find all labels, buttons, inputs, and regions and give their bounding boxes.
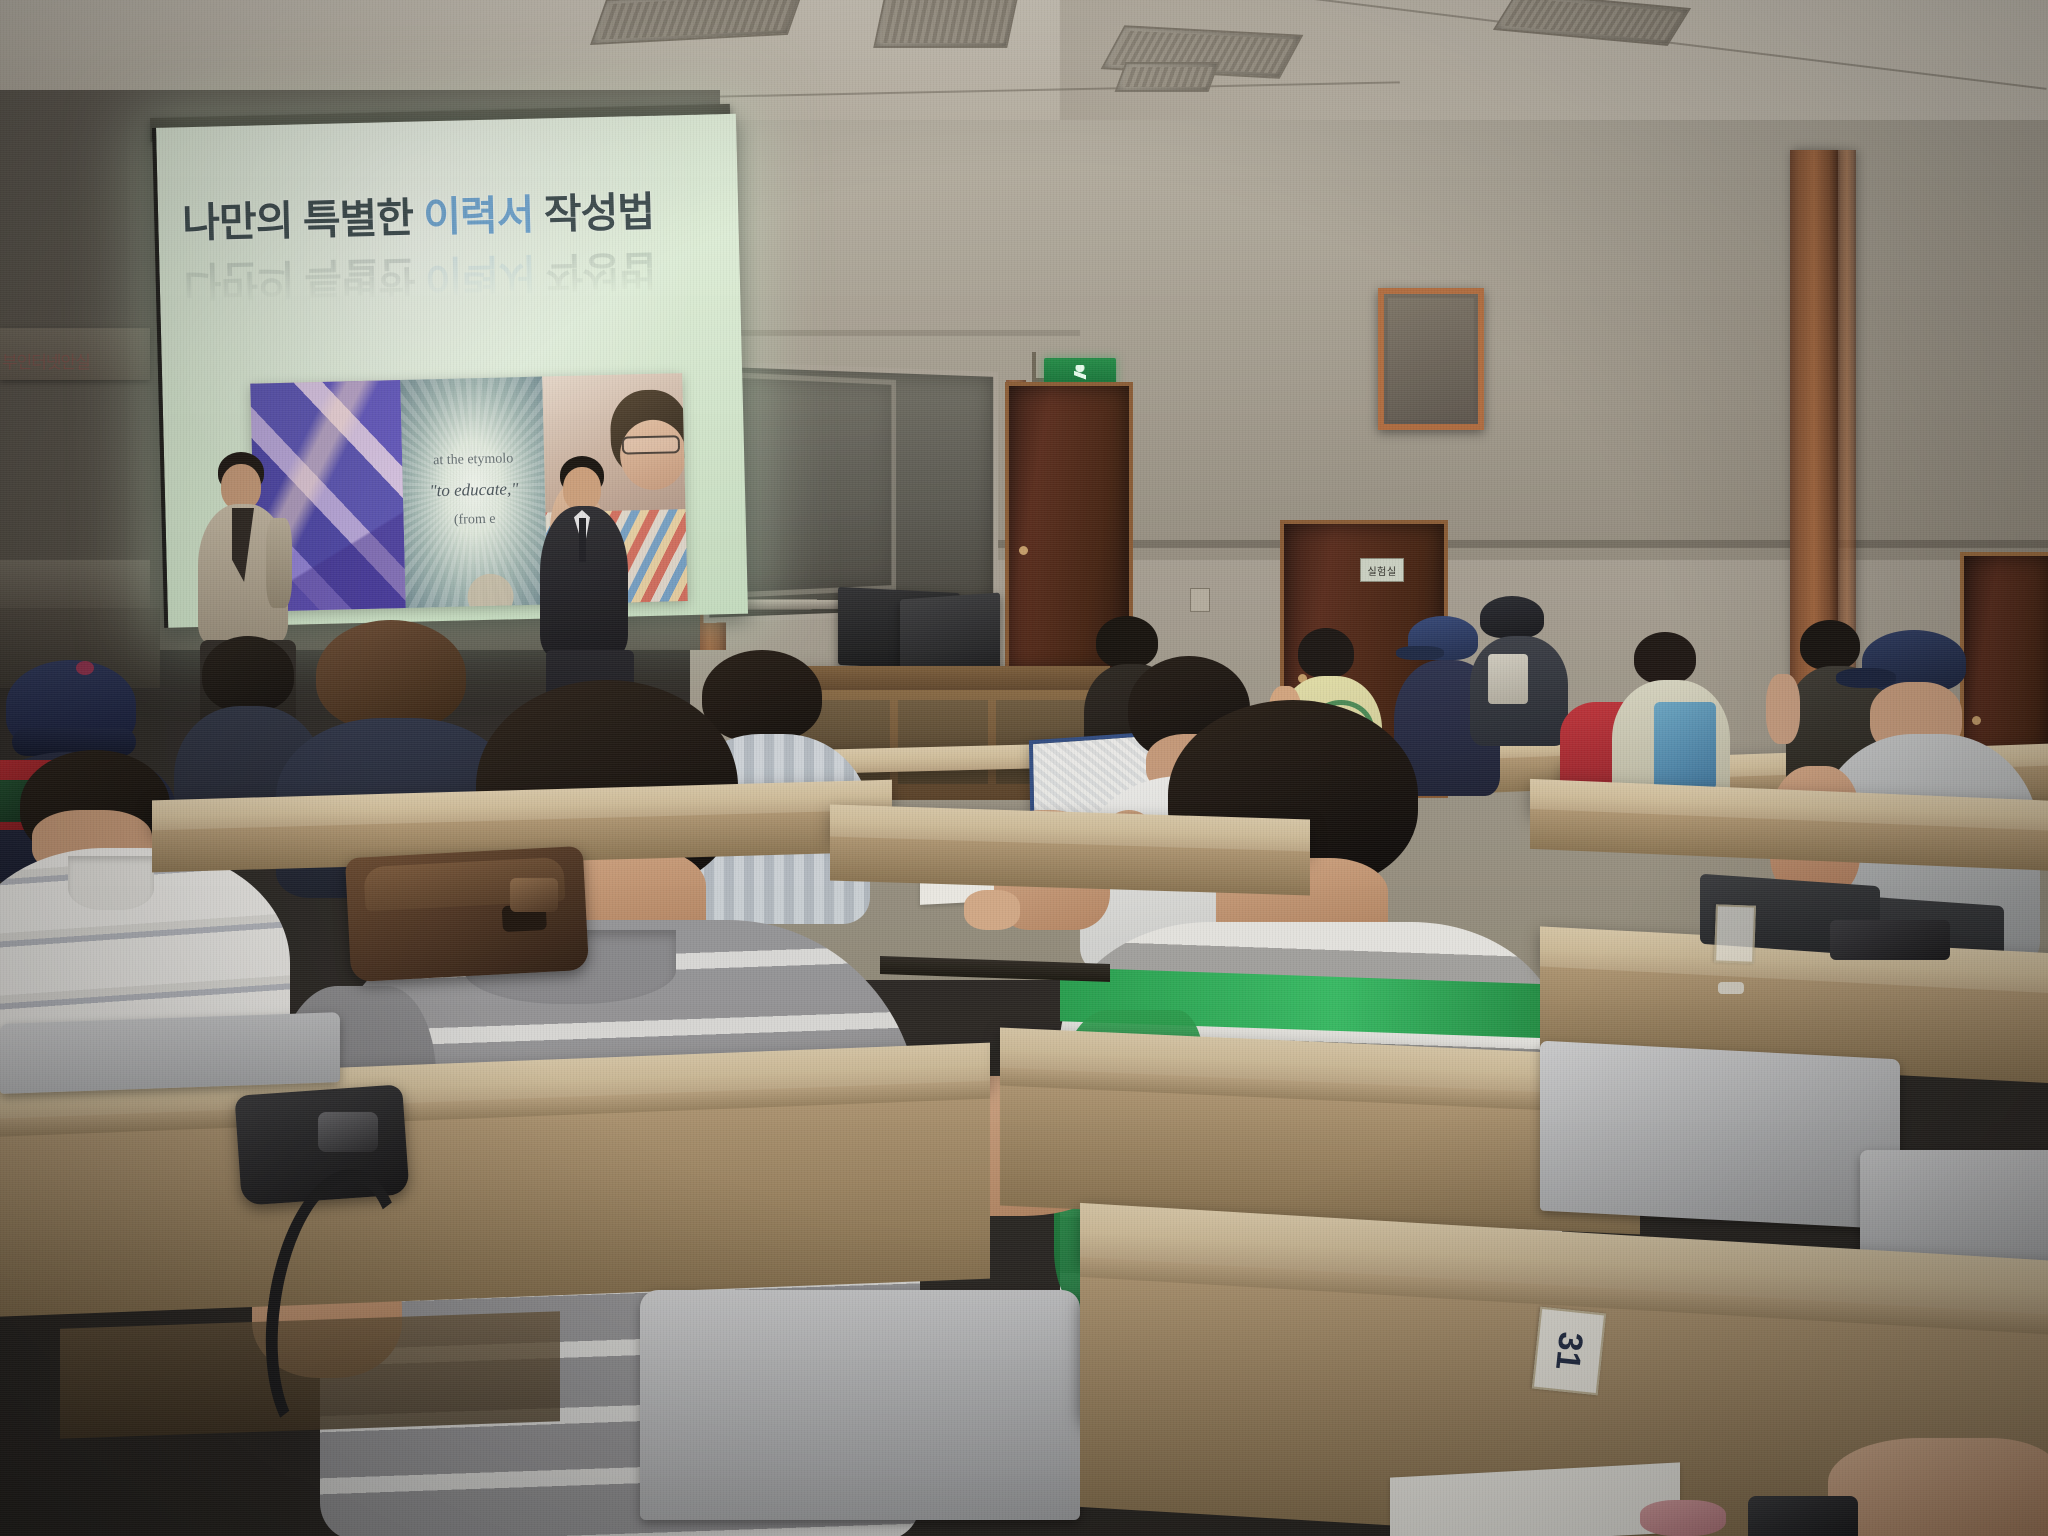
slide-title-reflect-part-1: 나만의 특별한: [183, 252, 425, 304]
slide-text-line-3: "to educate,": [403, 479, 545, 502]
slide-title: 나만의 특별한 이력서 작성법: [182, 176, 713, 249]
slide-panel-dictionary-text: at the etymolo "to educate," (from e: [400, 377, 548, 608]
slide-title-reflect-part-2: 이력서: [424, 250, 535, 299]
slide-title-part-3: 작성법: [533, 189, 655, 238]
wall-trim: [690, 330, 1080, 336]
necktie: [579, 518, 586, 562]
left-wall-sign-text: 부인터넷안실: [2, 348, 142, 370]
cap: [1480, 596, 1544, 638]
bag-pocket: [318, 1112, 378, 1152]
bag-on-floor-right: [1830, 920, 1950, 960]
hair: [202, 636, 294, 712]
arm: [266, 518, 292, 608]
leather-bag-tan: [345, 846, 589, 982]
light-switch[interactable]: [1190, 588, 1210, 612]
desk-number-plate: 31: [1532, 1307, 1606, 1395]
glasses-icon: [622, 435, 680, 454]
chair-center-near[interactable]: [640, 1290, 1080, 1520]
lecture-hall-photo: 부인터넷안실 실험실 나만의 특별한 이력서 작성법 나만의 특별한 이력서 작…: [0, 0, 2048, 1536]
chair-right-near[interactable]: [1540, 1041, 1900, 1230]
ceiling-light-panel-icon: [1115, 62, 1220, 92]
slide-title-part-1: 나만의 특별한: [182, 194, 424, 246]
head: [563, 467, 601, 511]
hand-bottom-right: [1828, 1438, 2048, 1536]
whiteboard-secondary: [726, 372, 896, 598]
desk-number-plate-secondary: [1714, 904, 1756, 963]
hand: [964, 890, 1020, 930]
collar: [68, 856, 154, 910]
pink-object: [1640, 1500, 1726, 1536]
hair: [1634, 632, 1696, 684]
wall-frame: [1378, 288, 1484, 430]
mobile-phone[interactable]: [1748, 1496, 1858, 1536]
left-wall-lower-trim: [0, 560, 150, 610]
shirt-graphic: [1654, 702, 1716, 790]
arm: [1766, 674, 1800, 744]
ceiling-vent-icon: [873, 0, 1021, 48]
desk-item-eraser: [1718, 982, 1744, 994]
slide-title-reflection: 나만의 특별한 이력서 작성법: [183, 242, 714, 315]
slide-title-part-2: 이력서: [423, 192, 534, 241]
backpack-panel: [1488, 654, 1528, 704]
cap-brim: [1396, 646, 1444, 660]
cap-brim: [1836, 668, 1896, 688]
chair-left-far[interactable]: [0, 1012, 340, 1094]
hair: [1298, 628, 1354, 678]
door-sign: 실험실: [1360, 558, 1404, 582]
slide-title-reflect-part-3: 작성법: [534, 247, 656, 296]
cap-button: [76, 661, 94, 675]
bag-buckle: [510, 878, 558, 912]
